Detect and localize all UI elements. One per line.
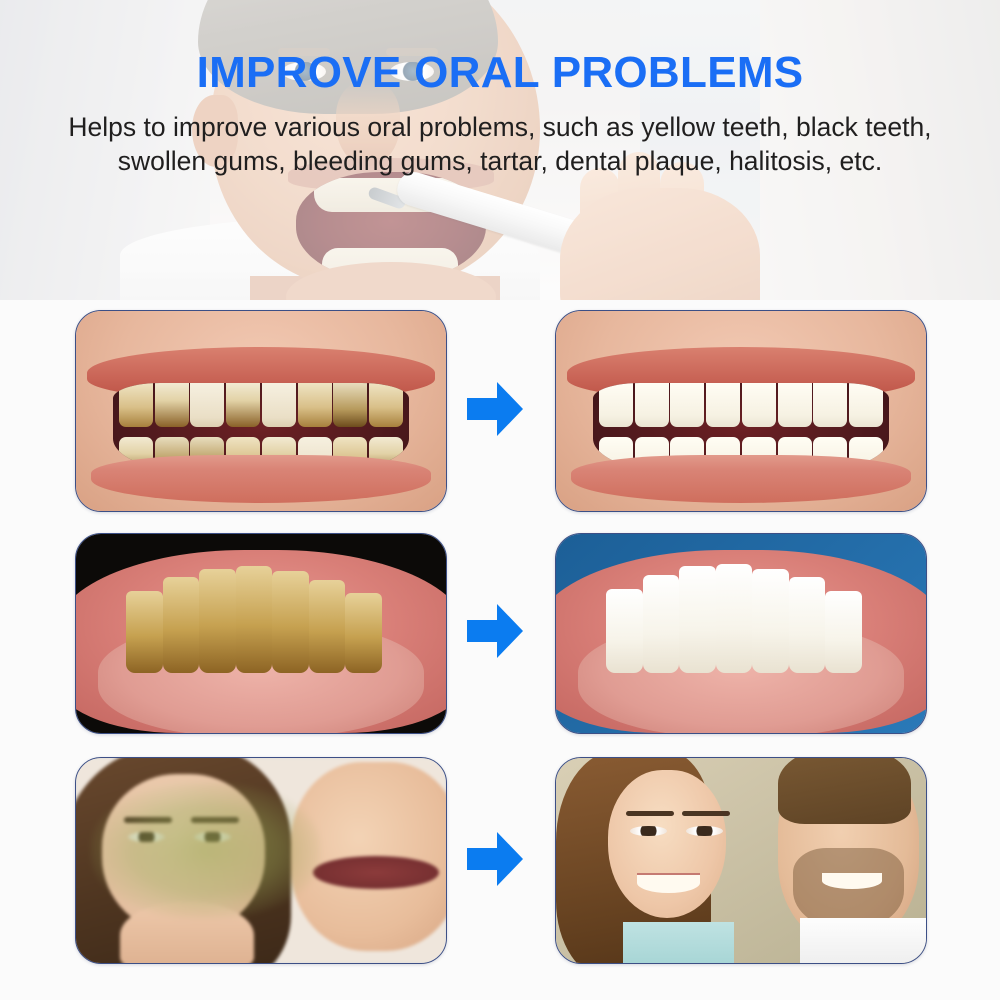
bad-breath-cloud xyxy=(91,783,320,918)
right-arrow-icon xyxy=(467,380,523,438)
woman-eye-right xyxy=(686,826,723,836)
comparison-1-before-image xyxy=(75,310,447,512)
lower-lip xyxy=(91,455,431,503)
lower-lip xyxy=(571,455,911,503)
clean-teeth-arch xyxy=(600,562,881,673)
right-arrow-icon xyxy=(467,830,523,888)
woman-eyebrow-left xyxy=(626,811,674,816)
comparison-2-after-image xyxy=(555,533,927,734)
woman-eyebrow-right xyxy=(682,811,730,816)
comparison-3-before-image xyxy=(75,757,447,964)
man-hair xyxy=(778,757,911,824)
comparison-grid xyxy=(0,0,1000,1000)
right-arrow-icon xyxy=(467,602,523,660)
upper-teeth-row xyxy=(119,383,403,427)
promo-page: IMPROVE ORAL PROBLEMS Helps to improve v… xyxy=(0,0,1000,1000)
man-open-mouth xyxy=(313,856,439,889)
woman-top xyxy=(623,922,734,963)
comparison-2-before-image xyxy=(75,533,447,734)
woman-eye-left xyxy=(630,826,667,836)
upper-teeth-row xyxy=(599,383,883,427)
comparison-3-after-image xyxy=(555,757,927,964)
woman-face xyxy=(608,770,726,918)
tartar-teeth-arch xyxy=(120,562,401,673)
man-shirt xyxy=(800,918,926,963)
comparison-1-after-image xyxy=(555,310,927,512)
